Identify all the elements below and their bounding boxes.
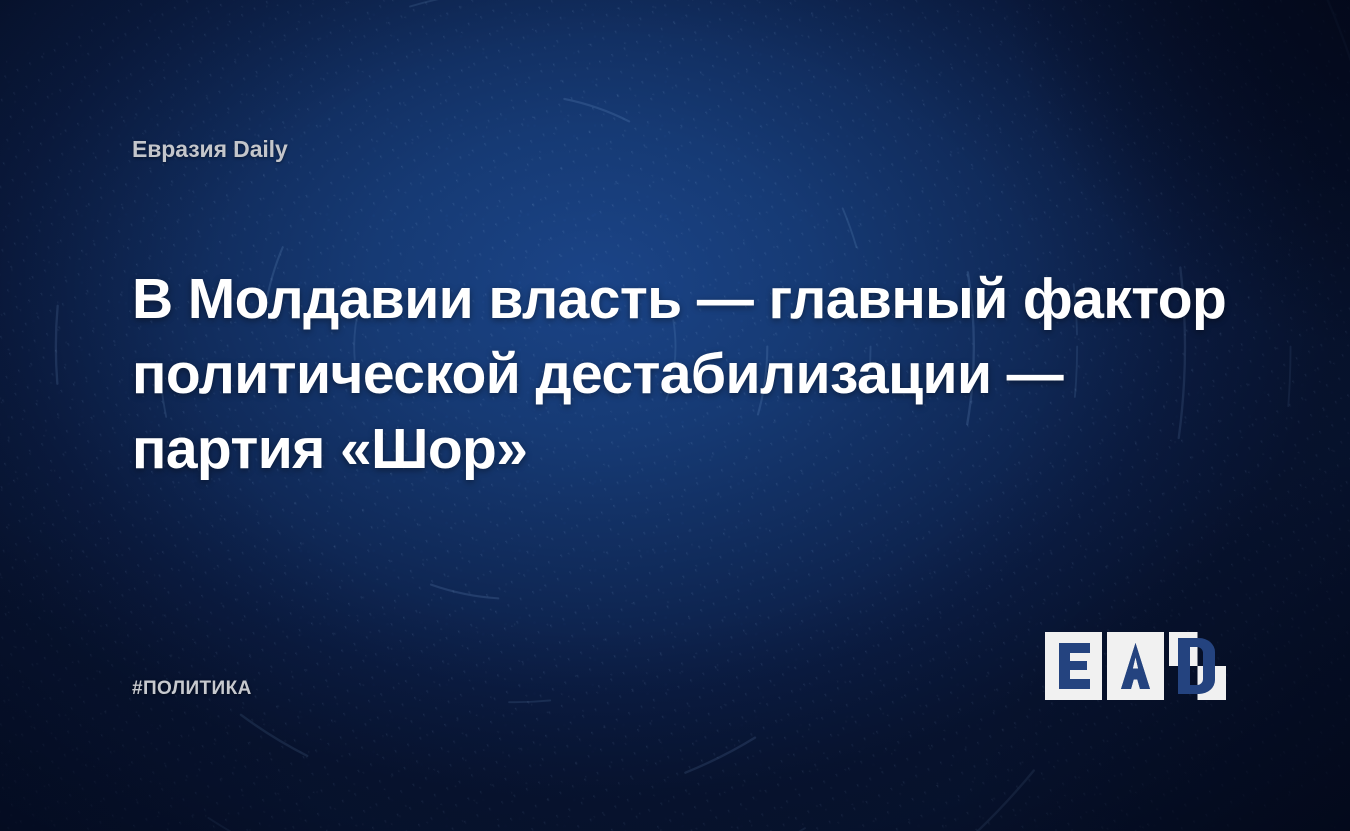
headline: В Молдавии власть — главный фактор полит… <box>132 262 1242 487</box>
card-content: Евразия Daily В Молдавии власть — главны… <box>0 0 1350 831</box>
topic-tag: #ПОЛИТИКА <box>132 678 252 700</box>
news-card: Евразия Daily В Молдавии власть — главны… <box>0 0 1350 831</box>
publisher-name: Евразия Daily <box>132 136 288 163</box>
eadaily-logo[interactable] <box>1045 632 1226 700</box>
eadaily-logo-mark <box>1045 632 1226 700</box>
